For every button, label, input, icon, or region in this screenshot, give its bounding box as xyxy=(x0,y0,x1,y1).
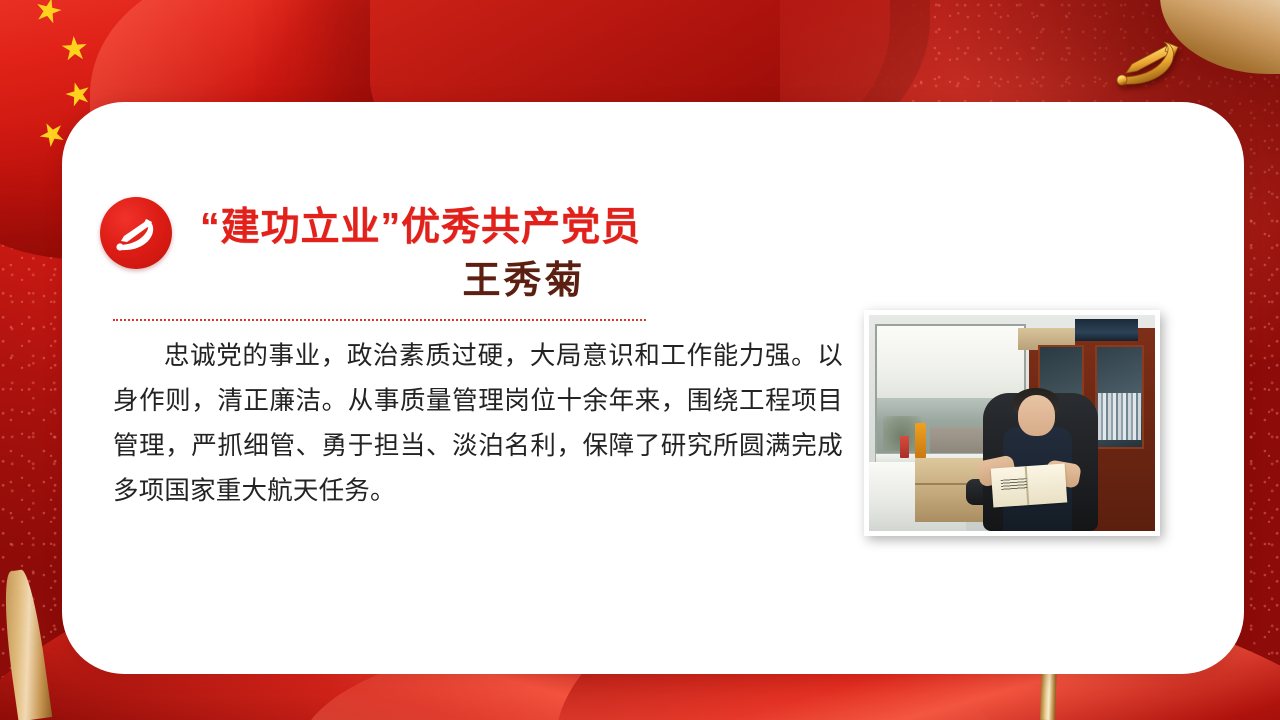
body-paragraph: 忠诚党的事业，政治素质过硬，大局意识和工作能力强。以身作则，清正廉洁。从事质量管… xyxy=(113,334,843,514)
party-emblem-hammer-sickle-icon xyxy=(100,197,172,269)
dotted-divider xyxy=(113,319,646,321)
party-emblem-gold-icon xyxy=(1112,33,1190,95)
person-name: 王秀菊 xyxy=(200,259,848,305)
portrait-photo xyxy=(864,310,1160,536)
slide-root: “建功立业”优秀共产党员 王秀菊 忠诚党的事业，政治素质过硬，大局意识和工作能力… xyxy=(0,0,1280,720)
portrait-photo-image xyxy=(869,315,1155,531)
page-title: “建功立业”优秀共产党员 xyxy=(200,205,900,251)
